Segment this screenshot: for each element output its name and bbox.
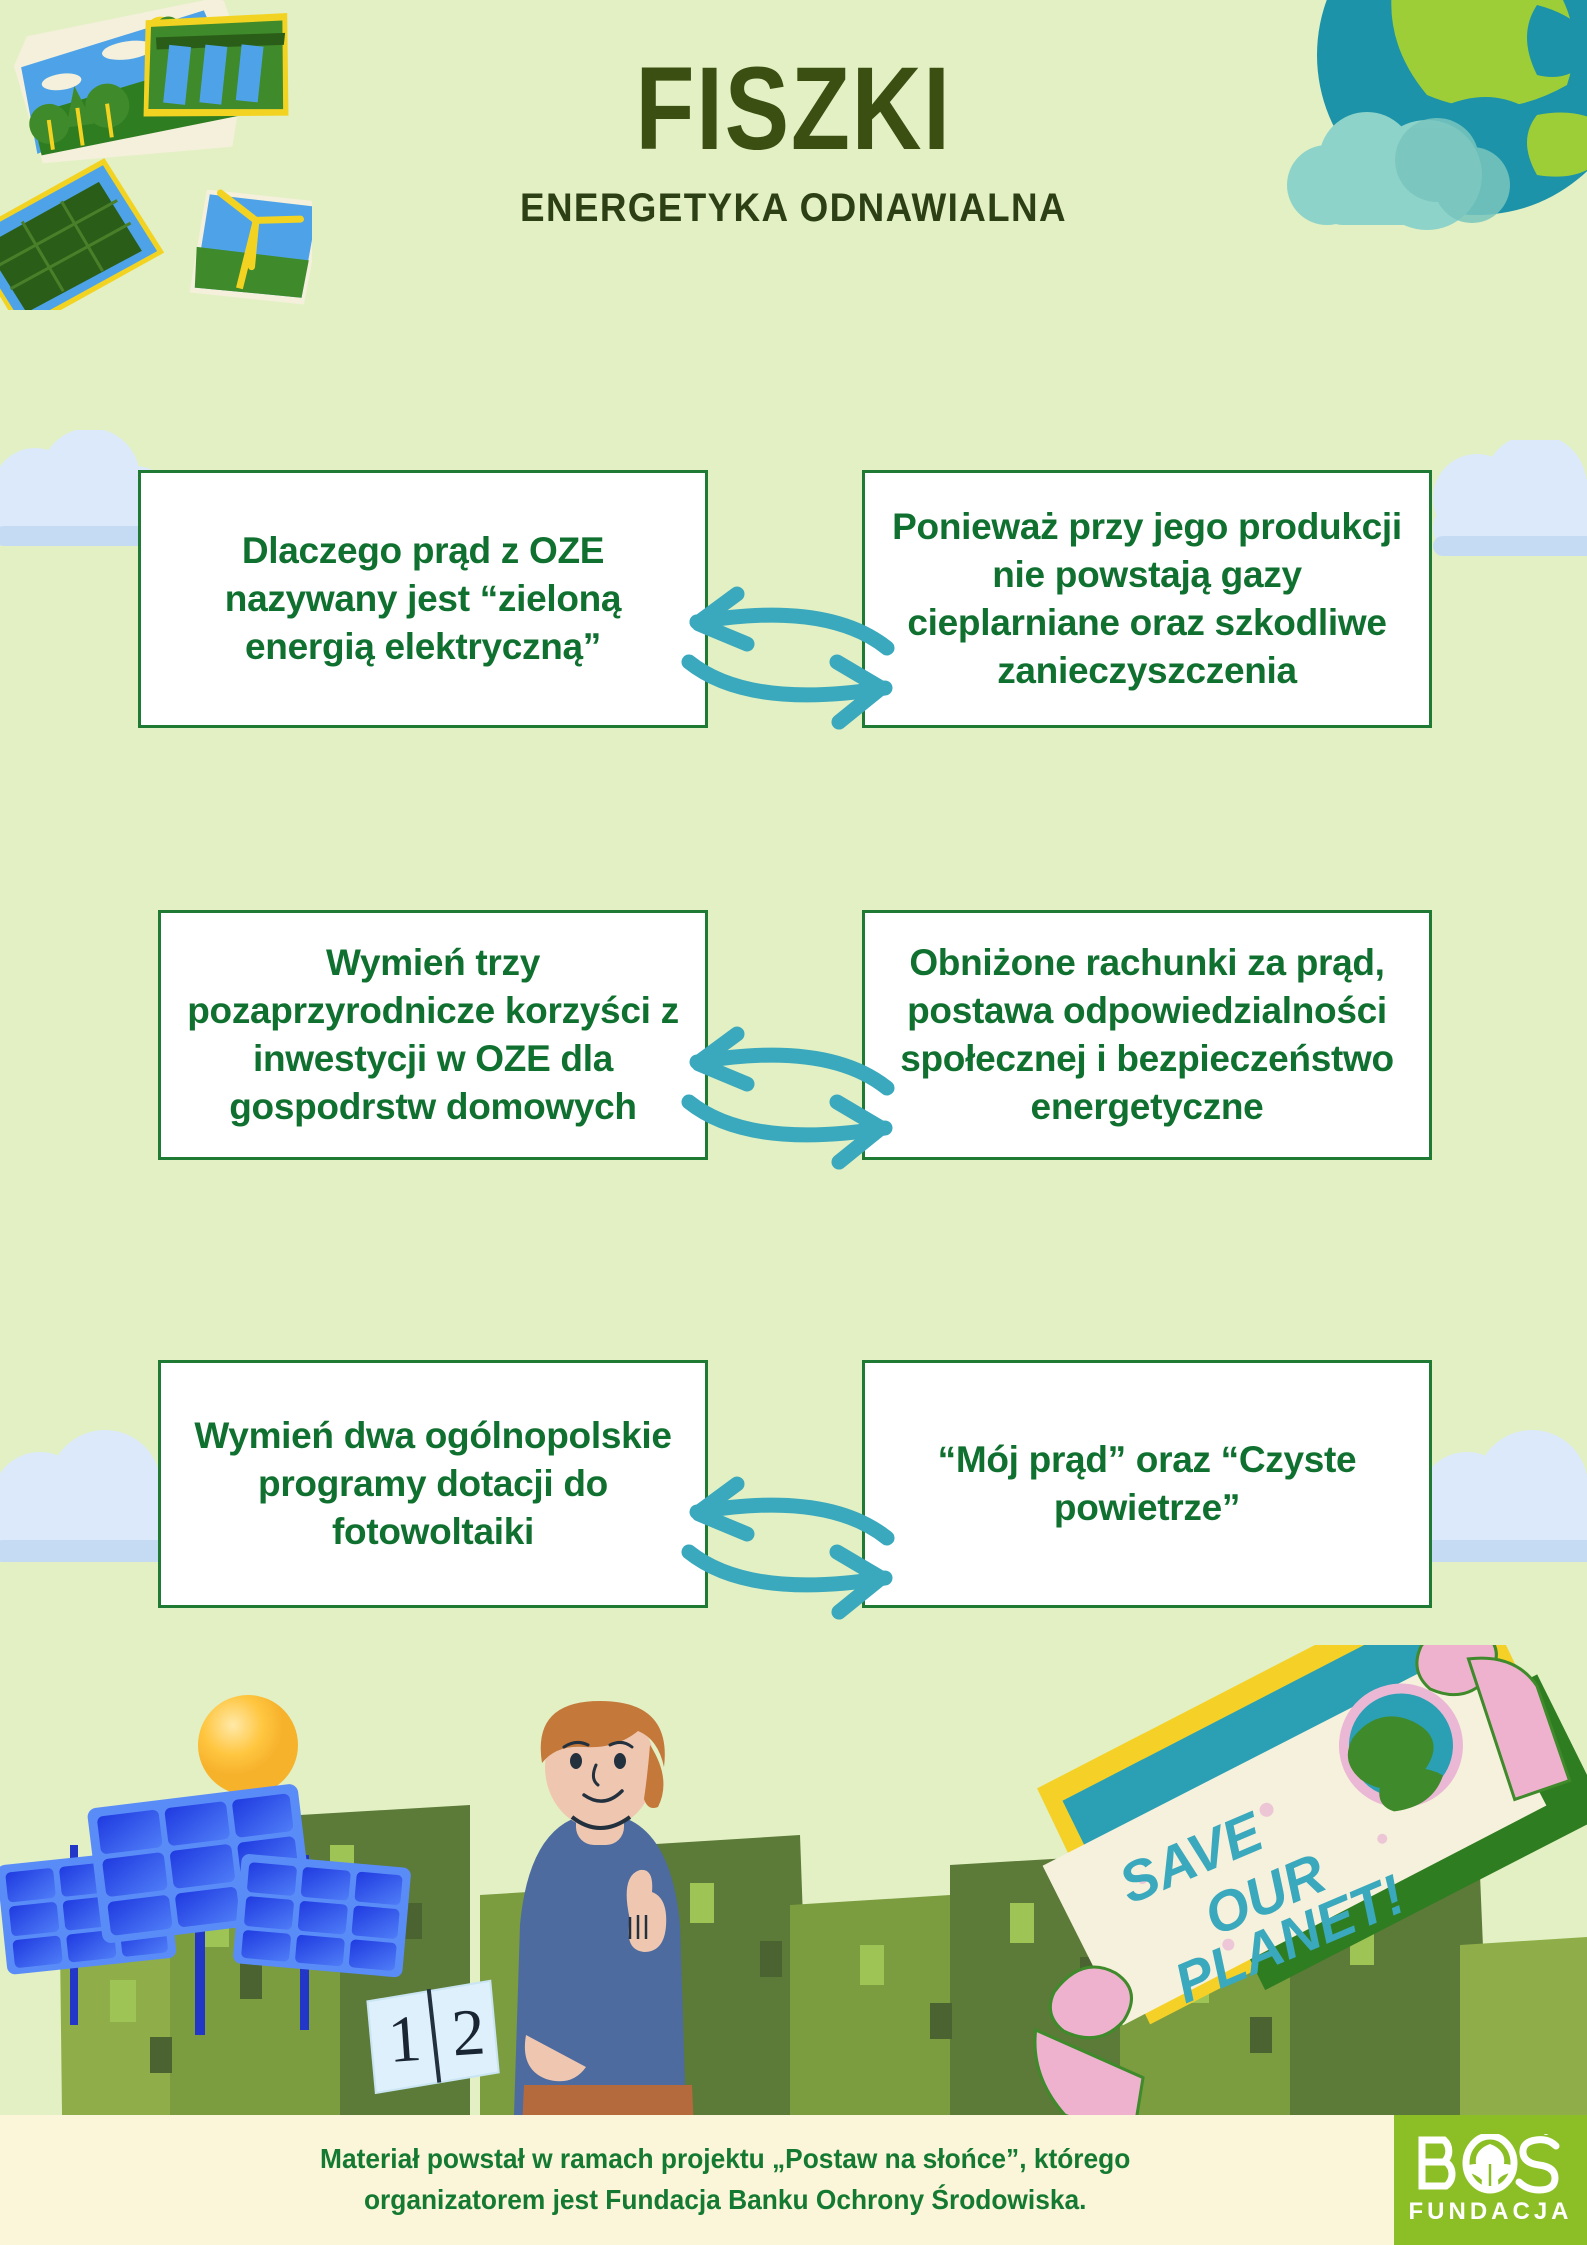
page-title: FISZKI xyxy=(143,50,1444,168)
poster-header: FISZKI ENERGETYKA ODNAWIALNA xyxy=(0,50,1587,231)
svg-text:2: 2 xyxy=(449,1995,487,2070)
svg-text:OUR: OUR xyxy=(1195,1841,1335,1948)
svg-text:PLANET!: PLANET! xyxy=(1165,1862,1413,2015)
arrow-pair-2 xyxy=(675,1010,905,1180)
flashcard-question-3[interactable]: Wymień dwa ogólnopolskie programy dotacj… xyxy=(158,1360,708,1608)
flashcard-answer-2[interactable]: Obniżone rachunki za prąd, postawa odpow… xyxy=(862,910,1432,1160)
flashcard-answer-1[interactable]: Ponieważ przy jego produkcji nie powstaj… xyxy=(862,470,1432,728)
bottom-city-scene-illustration: 1 2 xyxy=(0,1645,1587,2115)
flashcard-question-1[interactable]: Dlaczego prąd z OZE nazywany jest “zielo… xyxy=(138,470,708,728)
bos-fundacja-logo: FUNDACJA xyxy=(1394,2115,1587,2245)
arrow-pair-3 xyxy=(675,1460,905,1630)
footer-credit-text: Materiał powstał w ramach projektu „Post… xyxy=(42,2139,1352,2220)
flashcard-answer-3-text: “Mój prąd” oraz “Czyste powietrze” xyxy=(891,1436,1403,1532)
footer-bar: Materiał powstał w ramach projektu „Post… xyxy=(0,2115,1587,2245)
flashcard-question-3-text: Wymień dwa ogólnopolskie programy dotacj… xyxy=(187,1412,679,1556)
flashcard-question-1-text: Dlaczego prąd z OZE nazywany jest “zielo… xyxy=(167,527,679,671)
arrow-pair-1 xyxy=(675,570,905,740)
flashcard-answer-1-text: Ponieważ przy jego produkcji nie powstaj… xyxy=(891,503,1403,695)
bos-logo-subtitle: FUNDACJA xyxy=(1409,2198,1573,2226)
flashcard-question-2-text: Wymień trzy pozaprzyrodnicze korzyści z … xyxy=(187,939,679,1131)
bos-logo-mark xyxy=(1416,2134,1566,2194)
flashcard-question-2[interactable]: Wymień trzy pozaprzyrodnicze korzyści z … xyxy=(158,910,708,1160)
svg-text:SAVE: SAVE xyxy=(1110,1799,1273,1916)
page-subtitle: ENERGETYKA ODNAWIALNA xyxy=(63,186,1523,231)
svg-text:1: 1 xyxy=(386,2002,424,2077)
flashcard-answer-3[interactable]: “Mój prąd” oraz “Czyste powietrze” xyxy=(862,1360,1432,1608)
footer-line-1: Materiał powstał w ramach projektu „Post… xyxy=(98,2139,1352,2180)
flashcard-answer-2-text: Obniżone rachunki za prąd, postawa odpow… xyxy=(891,939,1403,1131)
poster-canvas: 1 2 xyxy=(0,0,1587,2245)
footer-line-2: organizatorem jest Fundacja Banku Ochron… xyxy=(98,2180,1352,2221)
